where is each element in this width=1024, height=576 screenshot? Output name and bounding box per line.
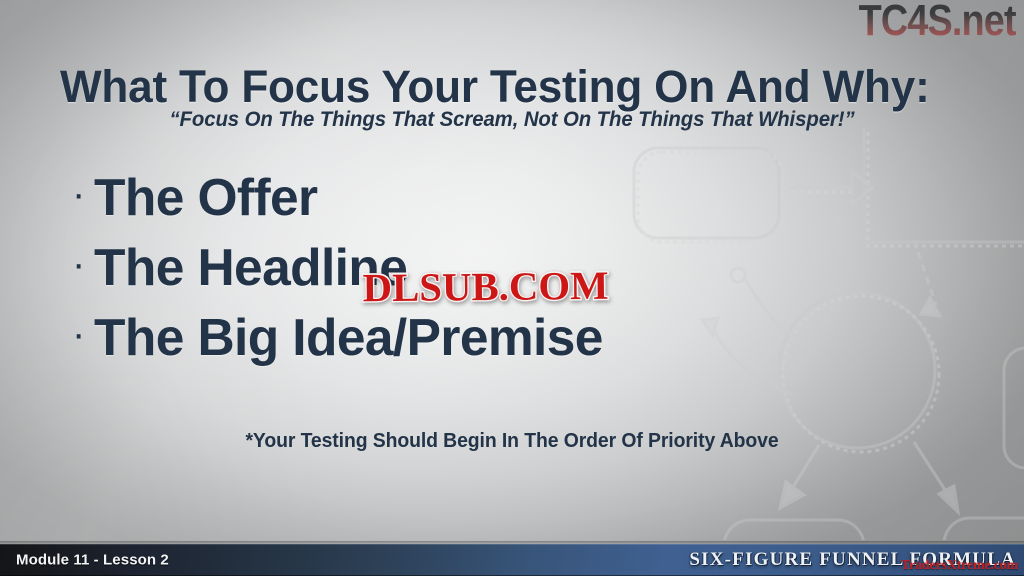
bullet-dot-icon: · bbox=[72, 244, 94, 284]
bullet-label: The Headline bbox=[94, 238, 407, 298]
bullet-dot-icon: · bbox=[72, 174, 94, 214]
slide-subtitle-quote: “Focus On The Things That Scream, Not On… bbox=[15, 108, 1008, 132]
bullet-label: The Big Idea/Premise bbox=[94, 308, 603, 368]
bullet-label: The Offer bbox=[94, 168, 317, 228]
bullet-dot-icon: · bbox=[72, 314, 94, 354]
list-item: · The Big Idea/Premise bbox=[72, 308, 608, 378]
watermark-dlsub-outline: DLSUB.COM bbox=[362, 262, 608, 312]
list-item: · The Offer bbox=[72, 168, 608, 238]
watermark-tc4s: TC4S.net bbox=[859, 0, 1016, 46]
slide-canvas: TC4S.net What To Focus Your Testing On A… bbox=[0, 0, 1024, 576]
slide-title: What To Focus Your Testing On And Why: bbox=[60, 61, 930, 113]
slide-footnote: *Your Testing Should Begin In The Order … bbox=[15, 430, 1008, 453]
footer-bar: Module 11 - Lesson 2 SIX-FIGURE FUNNEL F… bbox=[0, 544, 1024, 576]
module-lesson-label: Module 11 - Lesson 2 bbox=[16, 552, 169, 569]
watermark-tradersxtreme: TradersXtreme.com bbox=[901, 558, 1018, 574]
